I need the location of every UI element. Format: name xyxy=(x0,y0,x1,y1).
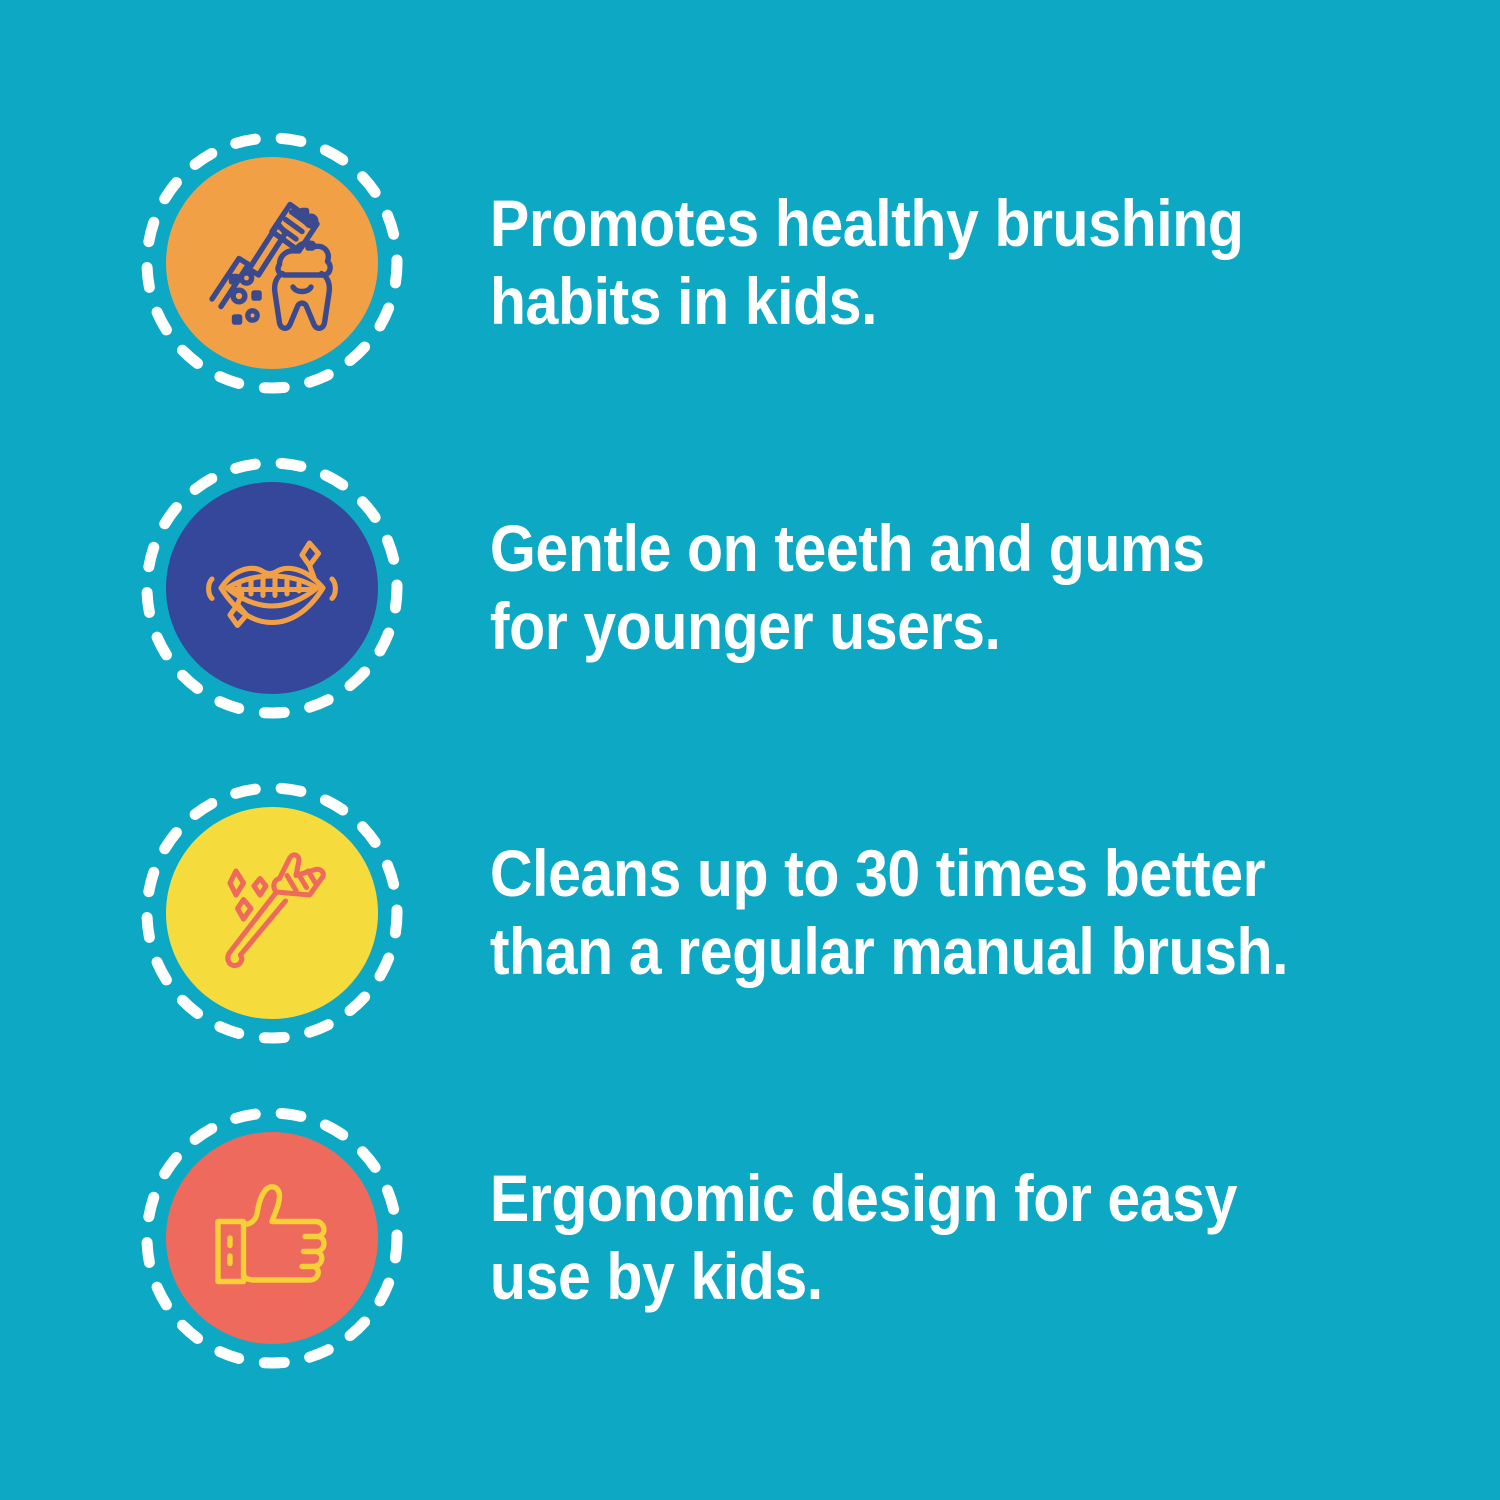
badge-ergonomic-design xyxy=(140,1106,404,1370)
smiling-mouth-teeth-icon xyxy=(197,513,347,663)
toothbrush-and-tooth-icon xyxy=(197,188,347,338)
feature-list: Promotes healthy brushing habits in kids… xyxy=(0,0,1500,1500)
feature-label: Ergonomic design for easy use by kids. xyxy=(404,1160,1331,1314)
feature-row: Promotes healthy brushing habits in kids… xyxy=(140,100,1440,425)
feature-label: Gentle on teeth and gums for younger use… xyxy=(404,510,1331,664)
feature-label: Promotes healthy brushing habits in kids… xyxy=(404,185,1331,339)
thumbs-up-icon xyxy=(197,1163,347,1313)
feature-label: Cleans up to 30 times better than a regu… xyxy=(404,835,1331,989)
badge-gentle-on-teeth-and-gums xyxy=(140,456,404,720)
badge-cleans-30-times-better xyxy=(140,781,404,1045)
feature-row: Cleans up to 30 times better than a regu… xyxy=(140,750,1440,1075)
feature-row: Ergonomic design for easy use by kids. xyxy=(140,1075,1440,1400)
badge-promotes-healthy-brushing xyxy=(140,131,404,395)
sparkling-toothbrush-icon xyxy=(197,838,347,988)
feature-row: Gentle on teeth and gums for younger use… xyxy=(140,425,1440,750)
